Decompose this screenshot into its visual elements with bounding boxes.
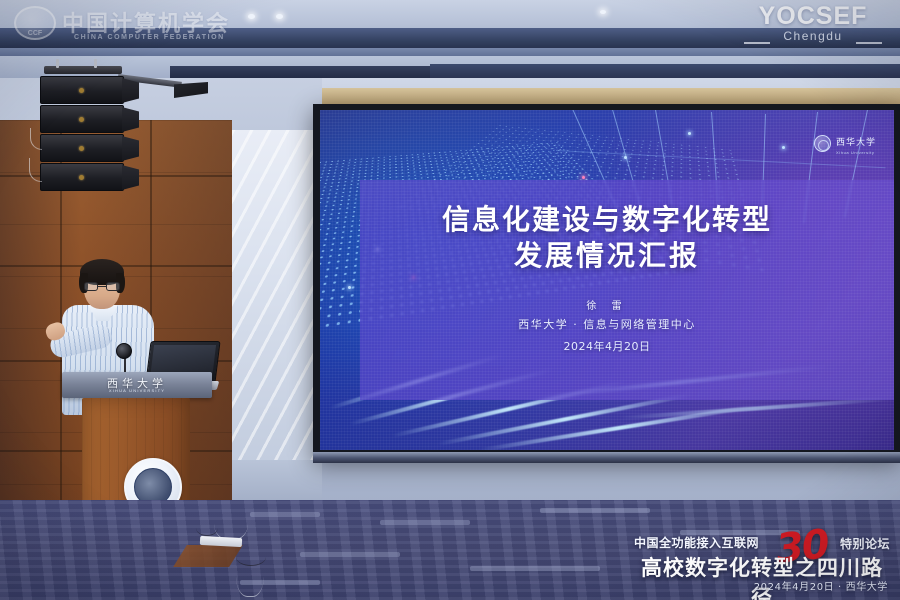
speaker-module-side (122, 136, 139, 161)
carpet-stripe (300, 552, 400, 557)
glasses-lens-right (106, 282, 120, 291)
podium-name-en: XIHUA UNIVERSITY (62, 388, 212, 393)
carpet-stripe (380, 520, 470, 525)
microphone-icon (116, 343, 132, 359)
network-node (688, 132, 691, 135)
glasses-bridge (98, 286, 106, 287)
network-node (624, 156, 627, 159)
podium-top-panel: 西华大学 XIHUA UNIVERSITY (62, 372, 212, 398)
slide-speaker-name: 徐 雷 (320, 297, 894, 312)
speaker-bolt (94, 59, 97, 68)
speaker-module-side (122, 107, 139, 132)
slide-logo-text: 西华大学 Xihua University (836, 132, 876, 155)
slide-logo-en: Xihua University (836, 150, 876, 155)
ceiling-light (276, 14, 283, 19)
speaker-driver (79, 117, 84, 122)
slide-title-line1: 信息化建设与数字化转型 (320, 202, 894, 238)
network-node-highlight (582, 176, 585, 179)
speaker-driver (79, 146, 84, 151)
slide-title-line2: 发展情况汇报 (320, 238, 894, 274)
slide-title: 信息化建设与数字化转型 发展情况汇报 (320, 202, 894, 274)
carpet-stripe (470, 566, 600, 571)
photo-scene: 信息化建设与数字化转型 发展情况汇报 徐 雷 西华大学 · 信息与网络管理中心 … (0, 0, 900, 600)
carpet-floor (0, 500, 900, 600)
ceiling-band (0, 28, 900, 50)
slide-organization: 西华大学 · 信息与网络管理中心 (320, 316, 894, 332)
speaker-module-side (122, 165, 139, 190)
projection-screen: 信息化建设与数字化转型 发展情况汇报 徐 雷 西华大学 · 信息与网络管理中心 … (320, 110, 894, 450)
soffit-recess-right (430, 64, 900, 79)
network-node (782, 146, 785, 149)
ceiling-light (248, 14, 255, 19)
floor-cable-dark (236, 548, 266, 566)
floor-cable-dark (196, 520, 218, 536)
line-array-speaker-stack (34, 66, 142, 196)
carpet-stripe (540, 508, 650, 513)
university-seal-icon (814, 135, 831, 152)
speaker-module (40, 134, 124, 162)
speaker-module (40, 76, 124, 104)
speaker-module (40, 163, 124, 191)
slide-date: 2024年4月20日 (320, 338, 894, 354)
slide-university-logo: 西华大学 Xihua University (814, 132, 876, 155)
glasses-lens-left (84, 282, 98, 291)
speaker-driver (79, 88, 84, 93)
projection-screen-base (313, 452, 900, 463)
carpet-stripe (250, 512, 320, 517)
ceiling-light (600, 10, 606, 14)
slide-logo-cn: 西华大学 (836, 138, 876, 148)
carpet-stripe (680, 530, 800, 535)
presenter-glasses (84, 282, 120, 291)
speaker-module (40, 105, 124, 133)
speaker-bolt (56, 59, 59, 68)
network-node (348, 286, 351, 289)
floor-cable (214, 500, 248, 540)
speaker-driver (79, 175, 84, 180)
marble-column (232, 130, 322, 460)
